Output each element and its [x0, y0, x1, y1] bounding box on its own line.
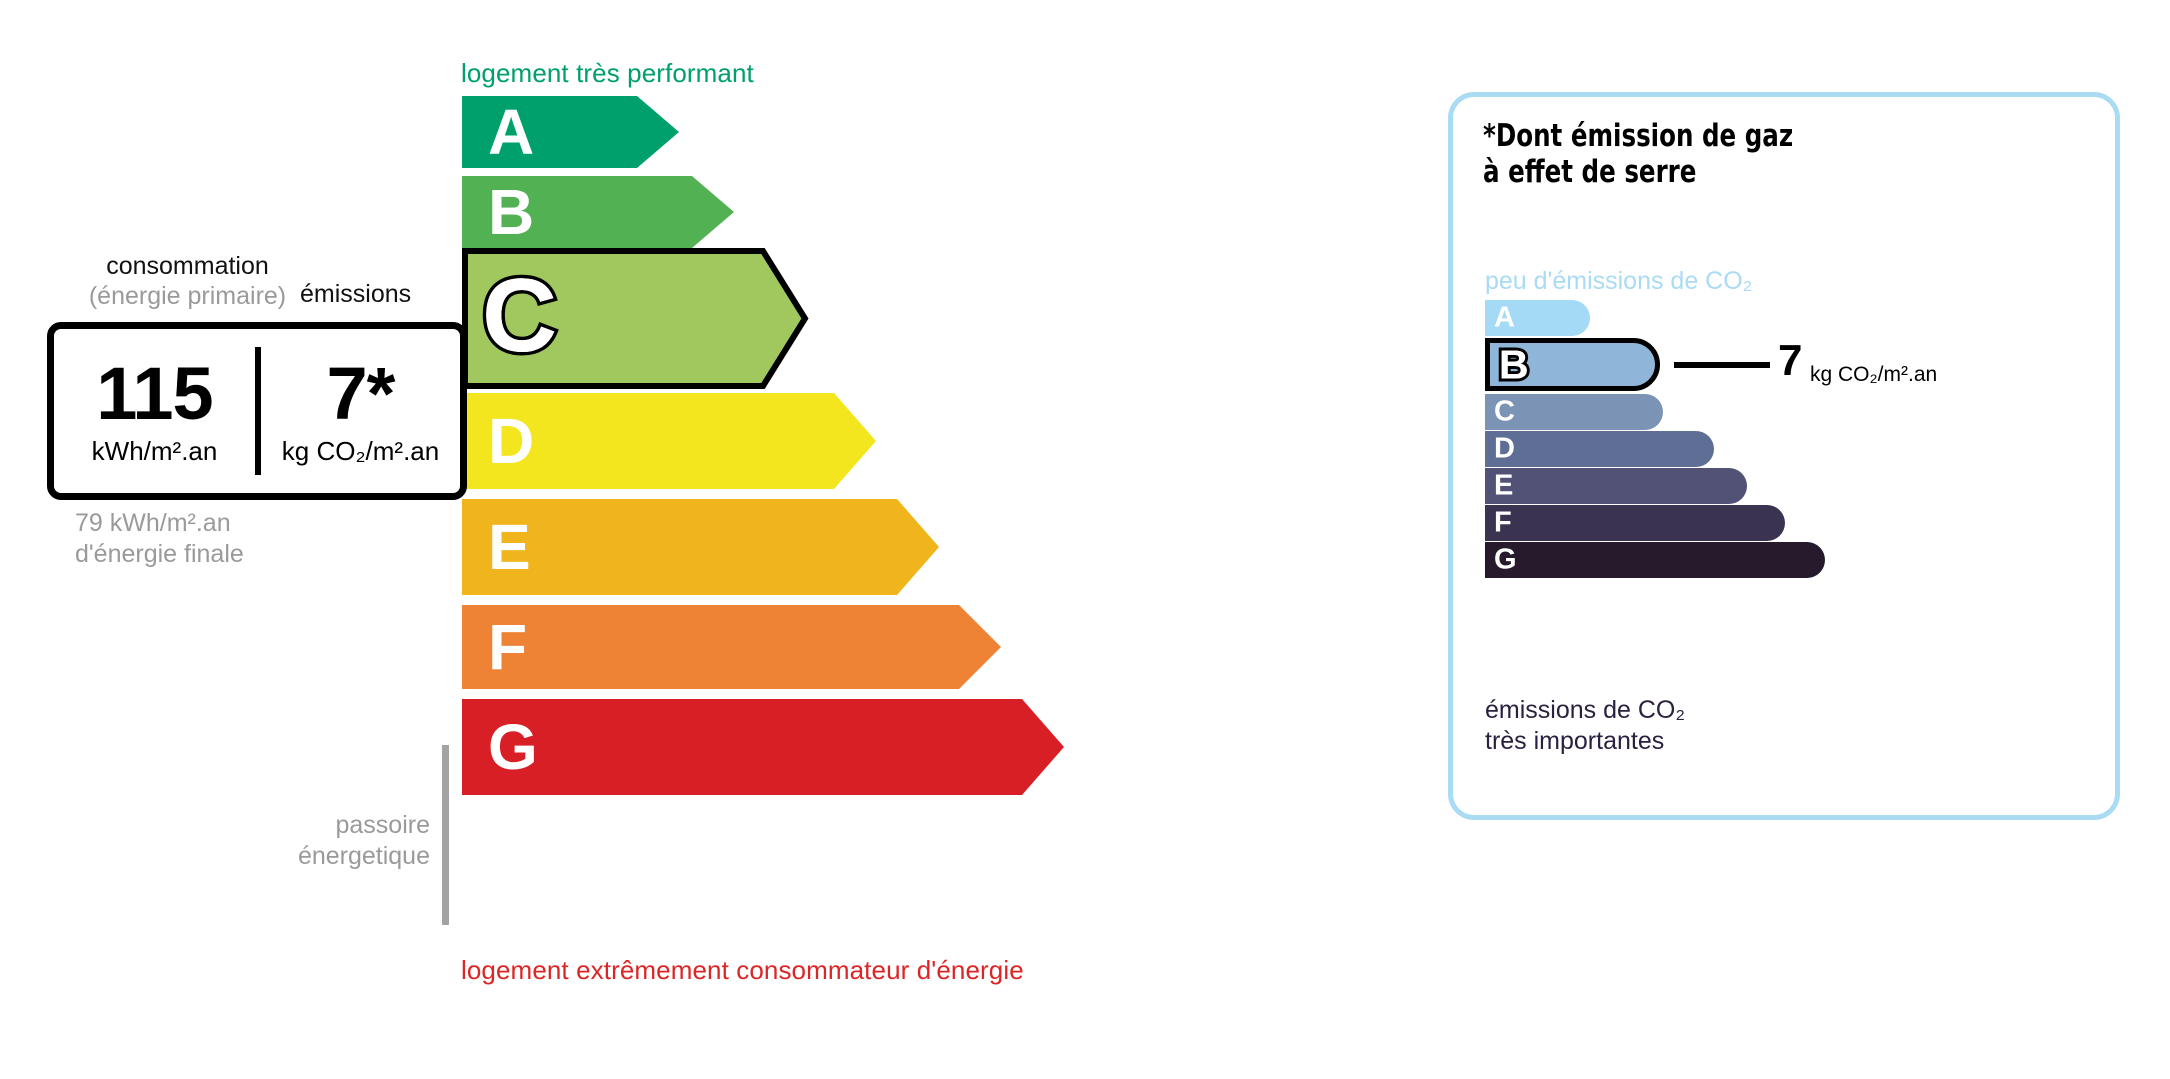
co2-caption-bottom-line1: émissions de CO₂: [1485, 695, 1685, 726]
energy-band-g: G: [462, 699, 1064, 795]
co2-leader-line: [1674, 362, 1770, 368]
energy-band-c: CC: [462, 248, 802, 383]
co2-bar-row-c: C: [1485, 394, 2085, 430]
co2-bar-row-a: A: [1485, 300, 2085, 336]
co2-bar-row-d: D: [1485, 431, 2085, 467]
energy-band-shape-d: [462, 393, 876, 489]
energy-band-a: A: [462, 96, 679, 168]
energy-band-list: ABCCDEFG: [0, 0, 1400, 1079]
energy-band-shape-g: [462, 699, 1064, 795]
co2-value: 7: [1778, 339, 1802, 383]
energy-band-shape-e: [462, 499, 939, 595]
co2-caption-top: peu d'émissions de CO₂: [1485, 267, 1752, 296]
energy-band-shape-a: [462, 96, 679, 168]
co2-bar-row-e: E: [1485, 468, 2085, 504]
energy-band-shape-f: [462, 605, 1001, 689]
co2-bar-letter-fill-b: B: [1499, 344, 1529, 385]
co2-emissions-panel: *Dont émission de gaz à effet de serre p…: [1448, 92, 2120, 820]
emission-value-cell: 7* kg CO₂/m².an: [261, 329, 460, 493]
co2-bar-g: [1485, 542, 1825, 578]
co2-panel-title: *Dont émission de gaz à effet de serre: [1483, 119, 1793, 190]
co2-title-line1: *Dont émission de gaz: [1483, 119, 1793, 155]
co2-bar-f: [1485, 505, 1785, 541]
co2-value-unit: kg CO₂/m².an: [1810, 363, 1937, 387]
co2-bar-row-g: G: [1485, 542, 2085, 578]
co2-bar-row-f: F: [1485, 505, 2085, 541]
co2-bar-letter-c: C: [1494, 398, 1515, 427]
consumption-value: 115: [96, 359, 212, 429]
co2-bar-e: [1485, 468, 1747, 504]
energy-band-b: B: [462, 176, 734, 248]
co2-bar-d: [1485, 431, 1714, 467]
consumption-value-cell: 115 kWh/m².an: [54, 329, 255, 493]
co2-caption-bottom: émissions de CO₂ très importantes: [1485, 695, 1685, 756]
energy-band-shape-b: [462, 176, 734, 248]
co2-bar-letter-f: F: [1494, 509, 1512, 538]
co2-bar-letter-a: A: [1494, 304, 1515, 333]
co2-caption-bottom-line2: très importantes: [1485, 726, 1685, 757]
emission-unit: kg CO₂/m².an: [282, 436, 439, 467]
energy-band-d: D: [462, 393, 876, 489]
dpe-value-box: 115 kWh/m².an 7* kg CO₂/m².an: [47, 322, 467, 500]
emission-value: 7*: [327, 359, 395, 429]
dpe-energy-scale-panel: logement très performant consommation (é…: [0, 0, 1400, 1079]
energy-band-letter-fill-c: C: [482, 264, 557, 368]
energy-band-e: E: [462, 499, 939, 595]
energy-band-f: F: [462, 605, 1001, 689]
co2-bar-letter-e: E: [1494, 472, 1513, 501]
consumption-unit: kWh/m².an: [92, 436, 218, 467]
co2-bar-letter-d: D: [1494, 435, 1515, 464]
co2-bar-letter-g: G: [1494, 546, 1517, 575]
scale-caption-bottom: logement extrêmement consommateur d'éner…: [461, 955, 1024, 986]
co2-title-line2: à effet de serre: [1483, 155, 1793, 191]
